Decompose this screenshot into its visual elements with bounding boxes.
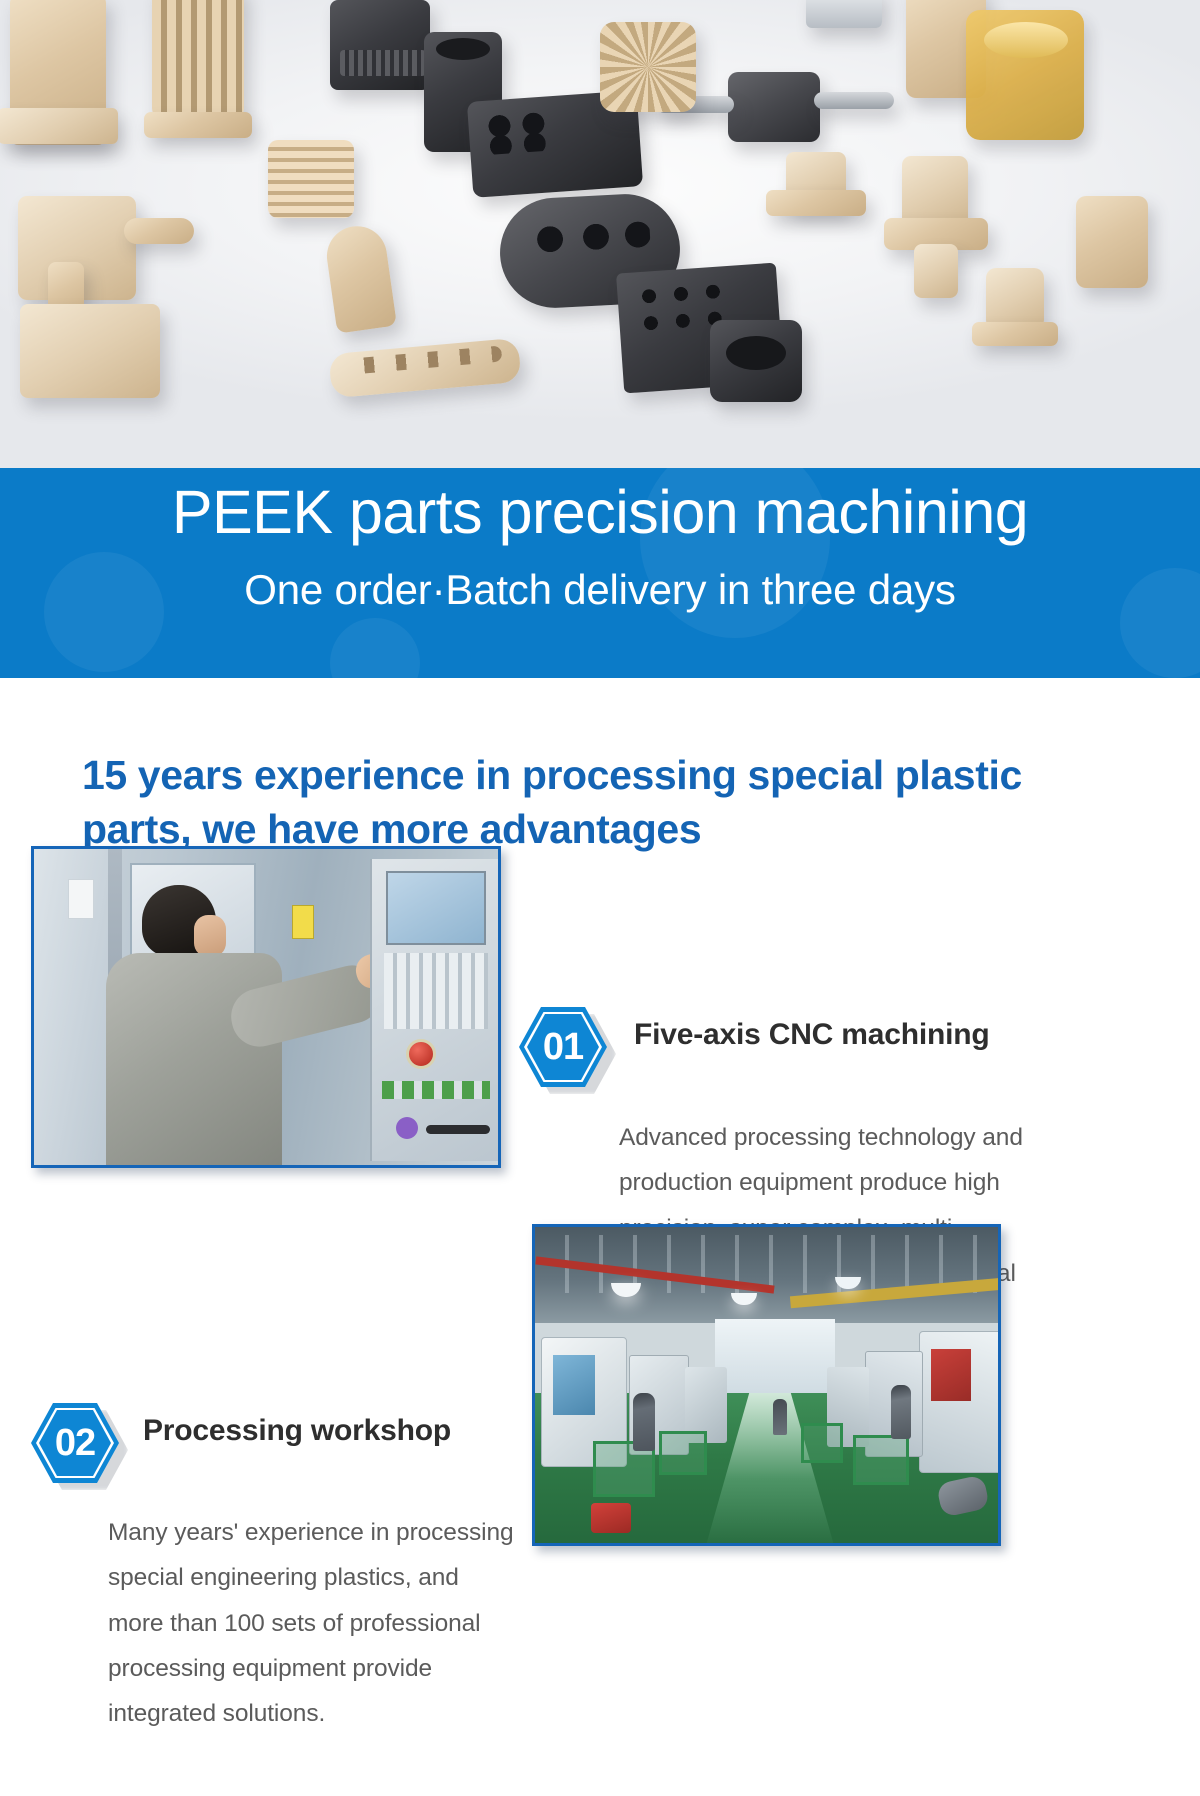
part-cone — [323, 222, 397, 333]
part-manifold-ports — [485, 109, 574, 155]
banner-title: PEEK parts precision machining — [0, 478, 1200, 546]
part-gear — [600, 22, 696, 112]
feature-01-title: Five-axis CNC machining — [634, 1018, 990, 1052]
workshop-machine-right-1-panel — [931, 1349, 971, 1401]
section-heading: 15 years experience in processing specia… — [82, 748, 1082, 856]
part-sleeve-bore — [436, 38, 490, 60]
part-steel-flange — [806, 0, 882, 28]
part-ribbed-bushing — [268, 140, 354, 218]
cnc-indicator-purple — [396, 1117, 418, 1139]
part-beige-flange — [0, 108, 118, 144]
workshop-worker-2 — [891, 1385, 911, 1439]
part-threaded-fitting — [330, 0, 430, 90]
cnc-button-row — [382, 1081, 490, 1099]
part-knob-flange — [972, 322, 1058, 346]
part-slotted-cage — [152, 0, 244, 122]
banner-bokeh-4 — [330, 618, 420, 678]
feature-02-title: Processing workshop — [143, 1414, 451, 1448]
operator-body — [106, 953, 282, 1168]
feature-02-badge: 02 — [31, 1403, 127, 1489]
workshop-worker-4 — [773, 1399, 787, 1435]
banner-subtitle: One order·Batch delivery in three days — [0, 566, 1200, 614]
cnc-screen — [386, 871, 486, 945]
part-valve-nipple — [124, 218, 194, 244]
part-cup-bore — [726, 336, 786, 370]
cnc-emergency-stop — [406, 1039, 436, 1069]
cnc-cable — [426, 1125, 490, 1134]
operator-face — [194, 915, 226, 957]
feature-01-badge: 01 — [519, 1007, 615, 1093]
workshop-machine-left-1-door — [553, 1355, 595, 1415]
workshop-cart-right-2 — [801, 1423, 843, 1463]
feature-01-number: 01 — [519, 1007, 607, 1087]
part-threads — [340, 50, 426, 76]
cnc-warning-label — [292, 905, 314, 939]
part-bracket-plate — [20, 304, 160, 398]
workshop-cart-left-2 — [659, 1431, 707, 1475]
part-oval-holes — [533, 219, 650, 255]
part-bushing-flange-a — [766, 190, 866, 216]
hero-product-photo — [0, 0, 1200, 470]
headline-banner: PEEK parts precision machining One order… — [0, 468, 1200, 678]
workshop-worker-1 — [633, 1393, 655, 1451]
workshop-far-wall — [715, 1319, 835, 1403]
part-bushing-stem-b — [914, 244, 958, 298]
part-knob — [986, 268, 1044, 330]
part-amber-bore — [984, 22, 1068, 58]
feature-02-number: 02 — [31, 1403, 119, 1483]
part-pedestal — [1076, 196, 1148, 288]
cnc-label-sheet — [68, 879, 94, 919]
part-cage-collar — [144, 112, 252, 138]
part-roller-shaft-right — [814, 92, 894, 109]
part-roller — [728, 72, 820, 142]
feature-02-body: Many years' experience in processing spe… — [108, 1510, 518, 1737]
feature-02-image — [532, 1224, 1001, 1546]
workshop-red-cart — [591, 1503, 631, 1533]
workshop-cart-right-1 — [853, 1435, 909, 1485]
cnc-keypad — [384, 953, 488, 1029]
feature-01-image — [31, 846, 501, 1168]
